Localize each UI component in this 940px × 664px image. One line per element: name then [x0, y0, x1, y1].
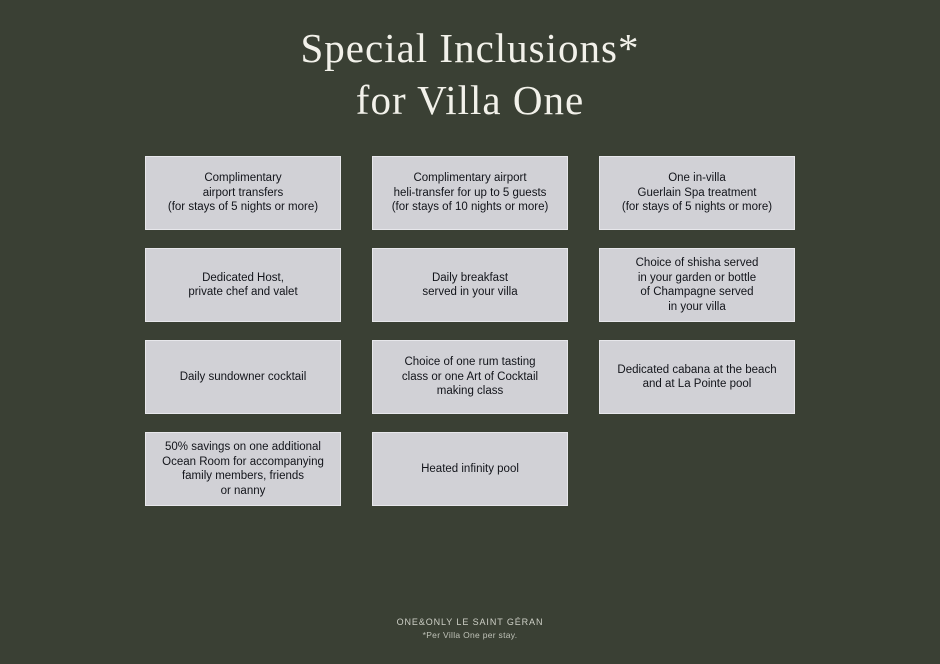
- inclusion-card-text: Dedicated cabana at the beach and at La …: [617, 363, 776, 392]
- inclusion-card: Choice of shisha served in your garden o…: [599, 248, 795, 322]
- page-title: Special Inclusions* for Villa One: [301, 22, 640, 126]
- inclusion-card-text: Choice of one rum tasting class or one A…: [402, 355, 538, 399]
- inclusion-card-text: Complimentary airport transfers (for sta…: [168, 171, 318, 215]
- inclusion-card: Complimentary airport heli-transfer for …: [372, 156, 568, 230]
- inclusion-card: 50% savings on one additional Ocean Room…: [145, 432, 341, 506]
- inclusion-card-text: Dedicated Host, private chef and valet: [188, 271, 297, 300]
- inclusion-card: Heated infinity pool: [372, 432, 568, 506]
- footer-brand-name: ONE&ONLY LE SAINT GÉRAN: [0, 616, 940, 629]
- inclusion-card-placeholder: [599, 432, 795, 506]
- inclusion-card-text: 50% savings on one additional Ocean Room…: [162, 440, 324, 498]
- special-inclusions-slide: Special Inclusions* for Villa One Compli…: [0, 0, 940, 664]
- inclusion-card: Dedicated Host, private chef and valet: [145, 248, 341, 322]
- inclusion-card: Choice of one rum tasting class or one A…: [372, 340, 568, 414]
- inclusion-card: Complimentary airport transfers (for sta…: [145, 156, 341, 230]
- inclusion-card-text: Heated infinity pool: [421, 462, 519, 477]
- inclusions-grid: Complimentary airport transfers (for sta…: [145, 156, 795, 506]
- inclusion-card: Daily sundowner cocktail: [145, 340, 341, 414]
- inclusion-card: Daily breakfast served in your villa: [372, 248, 568, 322]
- inclusion-card-text: Complimentary airport heli-transfer for …: [392, 171, 549, 215]
- footer: ONE&ONLY LE SAINT GÉRAN *Per Villa One p…: [0, 616, 940, 642]
- page-title-line-2: for Villa One: [301, 74, 640, 126]
- inclusion-card: One in-villa Guerlain Spa treatment (for…: [599, 156, 795, 230]
- inclusion-card-text: Daily sundowner cocktail: [180, 370, 307, 385]
- inclusion-card: Dedicated cabana at the beach and at La …: [599, 340, 795, 414]
- footer-disclaimer: *Per Villa One per stay.: [0, 629, 940, 642]
- inclusion-card-text: One in-villa Guerlain Spa treatment (for…: [622, 171, 772, 215]
- inclusion-card-text: Daily breakfast served in your villa: [422, 271, 517, 300]
- page-title-line-1: Special Inclusions*: [301, 22, 640, 74]
- inclusion-card-text: Choice of shisha served in your garden o…: [636, 256, 759, 314]
